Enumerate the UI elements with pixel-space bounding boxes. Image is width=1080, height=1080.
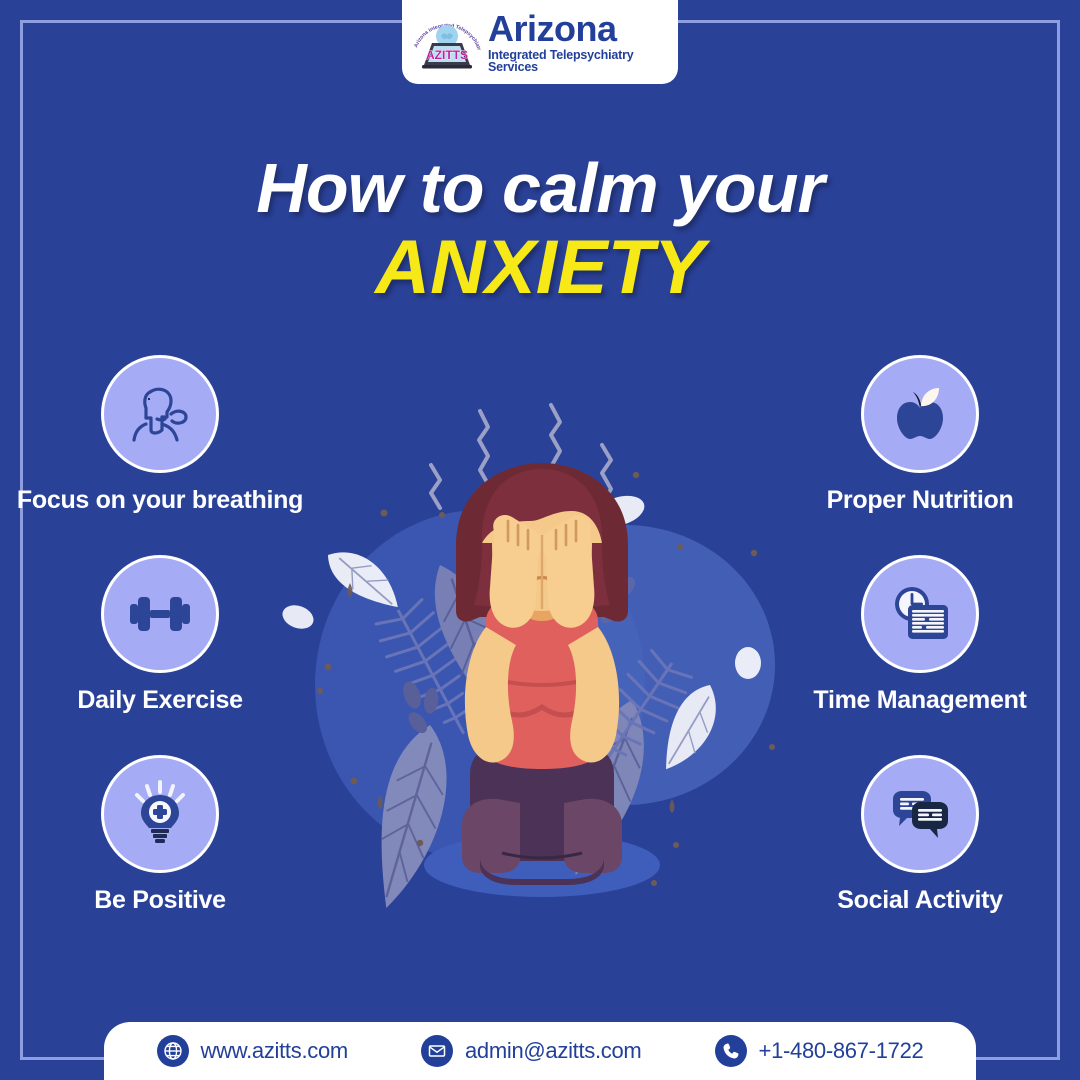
svg-text:AZITTS: AZITTS (426, 48, 468, 62)
feature-column-left: Focus on your breathing Daily Exercise (10, 355, 310, 955)
lightbulb-plus-icon (101, 755, 219, 873)
poster-canvas: Arizona Integrated Telepsychiatry Servic… (0, 0, 1080, 1080)
feature-daily-exercise[interactable]: Daily Exercise (10, 555, 310, 755)
email-text: admin@azitts.com (465, 1038, 641, 1064)
contact-website[interactable]: www.azitts.com (157, 1035, 348, 1067)
feature-label: Time Management (813, 685, 1026, 715)
envelope-icon (421, 1035, 453, 1067)
contact-email[interactable]: admin@azitts.com (421, 1035, 641, 1067)
headline-line-2-anxiety: ANXIETY (0, 228, 1080, 308)
feature-label: Proper Nutrition (827, 485, 1014, 515)
phone-text: +1-480-867-1722 (759, 1038, 924, 1064)
azitts-logo-mark-icon: Arizona Integrated Telepsychiatry Servic… (410, 11, 484, 73)
headline-line-1: How to calm your (0, 152, 1080, 226)
dumbbell-icon (101, 555, 219, 673)
headline-block: How to calm your ANXIETY (0, 152, 1080, 307)
anxious-woman-covering-face-illustration (280, 395, 800, 925)
clock-schedule-icon (861, 555, 979, 673)
globe-icon (157, 1035, 189, 1067)
feature-social-activity[interactable]: Social Activity (770, 755, 1070, 955)
feature-be-positive[interactable]: Be Positive (10, 755, 310, 955)
brand-logo-plate: Arizona Integrated Telepsychiatry Servic… (402, 0, 678, 84)
feature-column-right: Proper Nutrition (770, 355, 1070, 955)
brand-name: Arizona (488, 11, 678, 47)
phone-icon (715, 1035, 747, 1067)
breathing-face-icon (101, 355, 219, 473)
contact-footer-bar: www.azitts.com admin@azitts.com +1-480-8… (104, 1022, 976, 1080)
brand-tagline: Integrated Telepsychiatry Services (488, 49, 678, 74)
website-text: www.azitts.com (201, 1038, 348, 1064)
feature-label: Focus on your breathing (17, 485, 303, 515)
speech-bubbles-icon (861, 755, 979, 873)
feature-proper-nutrition[interactable]: Proper Nutrition (770, 355, 1070, 555)
brand-wordmark: Arizona Integrated Telepsychiatry Servic… (488, 11, 678, 74)
feature-label: Social Activity (837, 885, 1002, 915)
contact-phone[interactable]: +1-480-867-1722 (715, 1035, 924, 1067)
feature-focus-on-your-breathing[interactable]: Focus on your breathing (10, 355, 310, 555)
feature-time-management[interactable]: Time Management (770, 555, 1070, 755)
feature-label: Be Positive (94, 885, 225, 915)
feature-label: Daily Exercise (77, 685, 242, 715)
apple-icon (861, 355, 979, 473)
